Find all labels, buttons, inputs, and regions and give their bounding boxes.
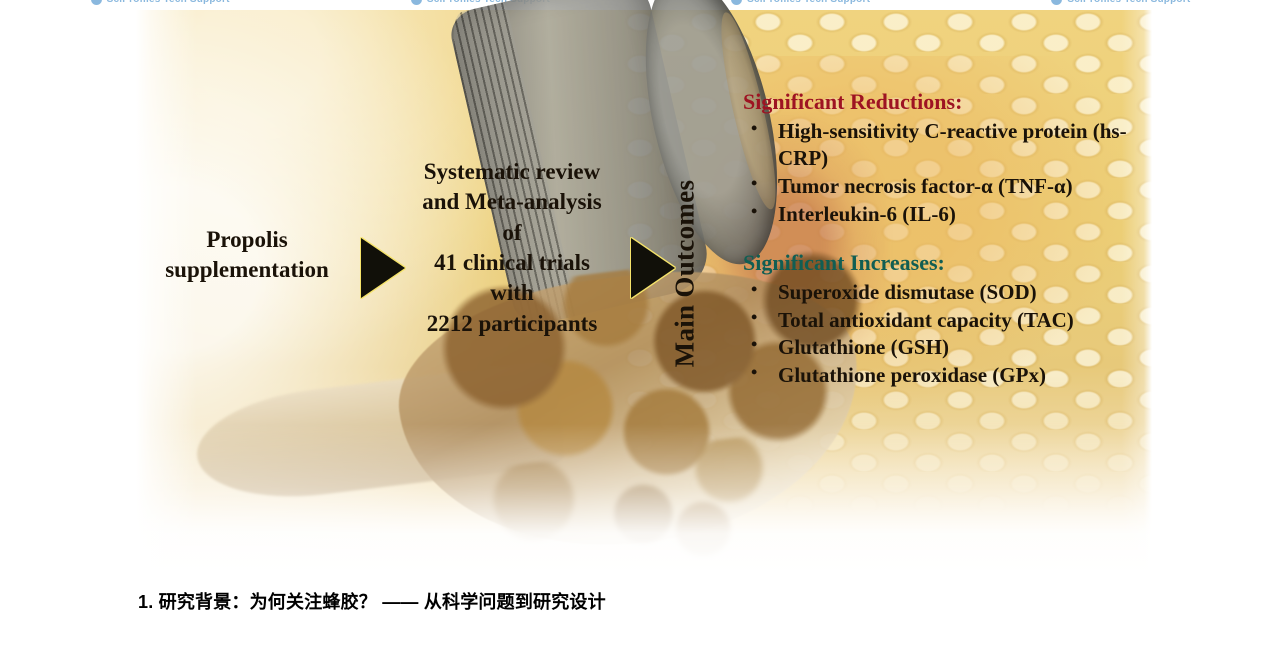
main-outcomes-axis-label: Main Outcomes <box>670 144 701 404</box>
section-caption: 1. 研究背景：为何关注蜂胶？ —— 从科学问题到研究设计 <box>138 588 606 614</box>
top-strip-item-label: SciProfiles Tech Support <box>747 0 870 5</box>
significant-increases-heading: Significant Increases: <box>743 251 1163 274</box>
graphical-abstract-figure: Propolissupplementation Systematic revie… <box>136 10 1152 585</box>
blue-circle-logo-icon <box>91 0 102 5</box>
top-strip-item-label: SciProfiles Tech Support <box>1067 0 1190 5</box>
significant-reductions-heading: Significant Reductions: <box>743 90 1163 113</box>
significant-reductions-list: High-sensitivity C-reactive protein (hs-… <box>743 118 1163 228</box>
list-item: Glutathione (GSH) <box>743 334 1163 361</box>
top-strip-item-label: SciProfiles Tech Support <box>107 0 230 5</box>
blue-circle-logo-icon <box>411 0 422 5</box>
top-strip-item: SciProfiles Tech Support <box>961 0 1281 5</box>
outcomes-panel: Significant Reductions: High-sensitivity… <box>743 90 1163 390</box>
flow-input-label: Propolissupplementation <box>138 225 356 285</box>
blue-circle-logo-icon <box>1051 0 1062 5</box>
flow-method-label: Systematic reviewand Meta-analysisof41 c… <box>392 157 632 339</box>
list-item: Interleukin-6 (IL-6) <box>743 201 1163 228</box>
right-triangle-arrow-icon <box>631 238 675 298</box>
list-item: Superoxide dismutase (SOD) <box>743 279 1163 306</box>
list-item: Tumor necrosis factor-α (TNF-α) <box>743 173 1163 200</box>
top-strip-item: SciProfiles Tech Support <box>0 0 320 5</box>
list-item: Total antioxidant capacity (TAC) <box>743 307 1163 334</box>
list-item: High-sensitivity C-reactive protein (hs-… <box>743 118 1163 172</box>
significant-increases-list: Superoxide dismutase (SOD) Total antioxi… <box>743 279 1163 390</box>
list-item: Glutathione peroxidase (GPx) <box>743 362 1163 389</box>
